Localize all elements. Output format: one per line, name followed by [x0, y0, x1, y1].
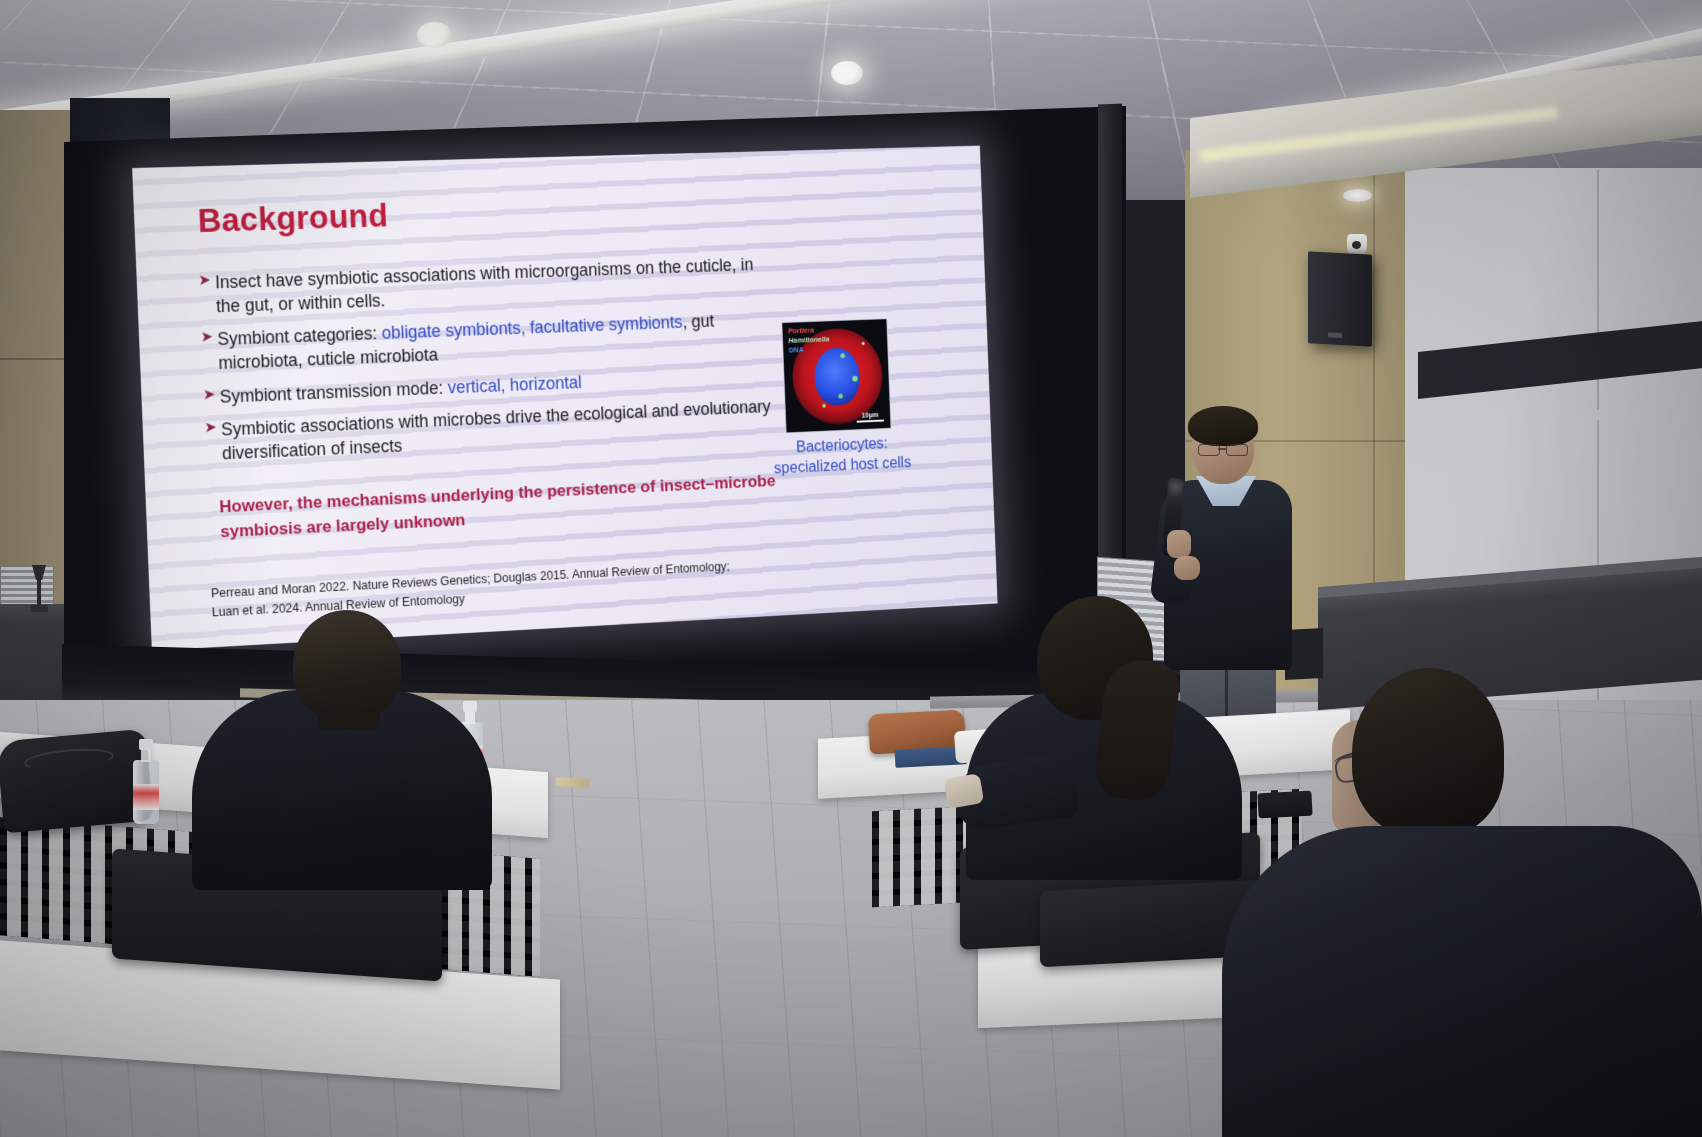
speaker-badge: [1328, 332, 1342, 338]
slide-references: Perreau and Moran 2022. Nature Reviews G…: [211, 546, 948, 622]
bullet-text: Insect have symbiotic associations with …: [215, 255, 754, 317]
slide-bullet-list: ➤ Insect have symbiotic associations wit…: [198, 252, 778, 475]
presenter-hair: [1188, 406, 1258, 446]
water-bottle: [133, 738, 159, 824]
bullet-arrow-icon: ➤: [200, 328, 213, 349]
bullet-text-highlight: vertical, horizontal: [447, 372, 582, 397]
bullet-text: Symbiont transmission mode:: [219, 377, 448, 406]
micrograph-caption: Bacteriocytes: specialized host cells: [745, 432, 938, 481]
micrograph-image: Portiera Hamiltonella DNA 10μm: [781, 318, 891, 433]
bullet-text-highlight: obligate symbionts, facultative symbiont…: [381, 312, 683, 343]
micrograph-figure: Portiera Hamiltonella DNA 10μm: [781, 318, 891, 433]
bottle-label: [133, 784, 159, 810]
bullet-text: Symbiont categories:: [217, 323, 382, 349]
ceiling-downlight-icon: [831, 61, 863, 85]
micrograph-speck: [862, 342, 865, 345]
bottle-cap: [139, 739, 153, 750]
bullet-arrow-icon: ➤: [204, 418, 217, 439]
pen-on-desk: [556, 777, 590, 788]
bottle-neck: [141, 748, 151, 762]
audience-sleeve-cuff: [944, 773, 985, 809]
glasses-lens-left: [1198, 444, 1220, 456]
micrograph-label-portiera: Portiera: [788, 327, 814, 336]
slide-content: Background ➤ Insect have symbiotic assoc…: [132, 146, 997, 651]
slide-bullet-item: ➤ Insect have symbiotic associations wit…: [198, 252, 772, 319]
trophy-cup: [32, 565, 46, 580]
bottle-neck: [465, 710, 475, 724]
trophy-stem: [37, 579, 41, 605]
bullet-arrow-icon: ➤: [198, 271, 211, 292]
audience-torso: [1222, 826, 1702, 1137]
bullet-arrow-icon: ➤: [203, 385, 216, 406]
audience-head: [293, 610, 401, 720]
presenter-hand-holding-mic: [1167, 530, 1191, 558]
bottle-cap: [463, 701, 477, 712]
slide-key-statement: However, the mechanisms underlying the p…: [219, 466, 828, 544]
micrograph-label-hamiltonella: Hamiltonella: [788, 336, 829, 345]
trophy-ornament: [30, 565, 48, 617]
glasses-bridge: [1218, 448, 1226, 450]
smartphone: [1257, 791, 1312, 819]
wall-speaker-icon: [1308, 251, 1372, 346]
ceiling-downlight-icon: [417, 22, 452, 48]
lecture-hall-photo: Background ➤ Insect have symbiotic assoc…: [0, 0, 1702, 1137]
black-backpack: [0, 729, 154, 834]
glasses-icon: [1198, 444, 1248, 454]
audience-head: [1352, 668, 1504, 836]
slide-title: Background: [197, 197, 389, 240]
ceiling-downlight-icon: [1343, 189, 1372, 202]
presentation-slide: Background ➤ Insect have symbiotic assoc…: [132, 146, 997, 651]
micrograph-scale-bar: 10μm: [856, 412, 884, 423]
trophy-base: [30, 605, 48, 612]
bullet-text: Symbiotic associations with microbes dri…: [221, 396, 771, 463]
micrograph-label-dna: DNA: [789, 346, 804, 354]
glasses-lens-right: [1226, 444, 1248, 456]
presenter-hand: [1174, 556, 1200, 580]
